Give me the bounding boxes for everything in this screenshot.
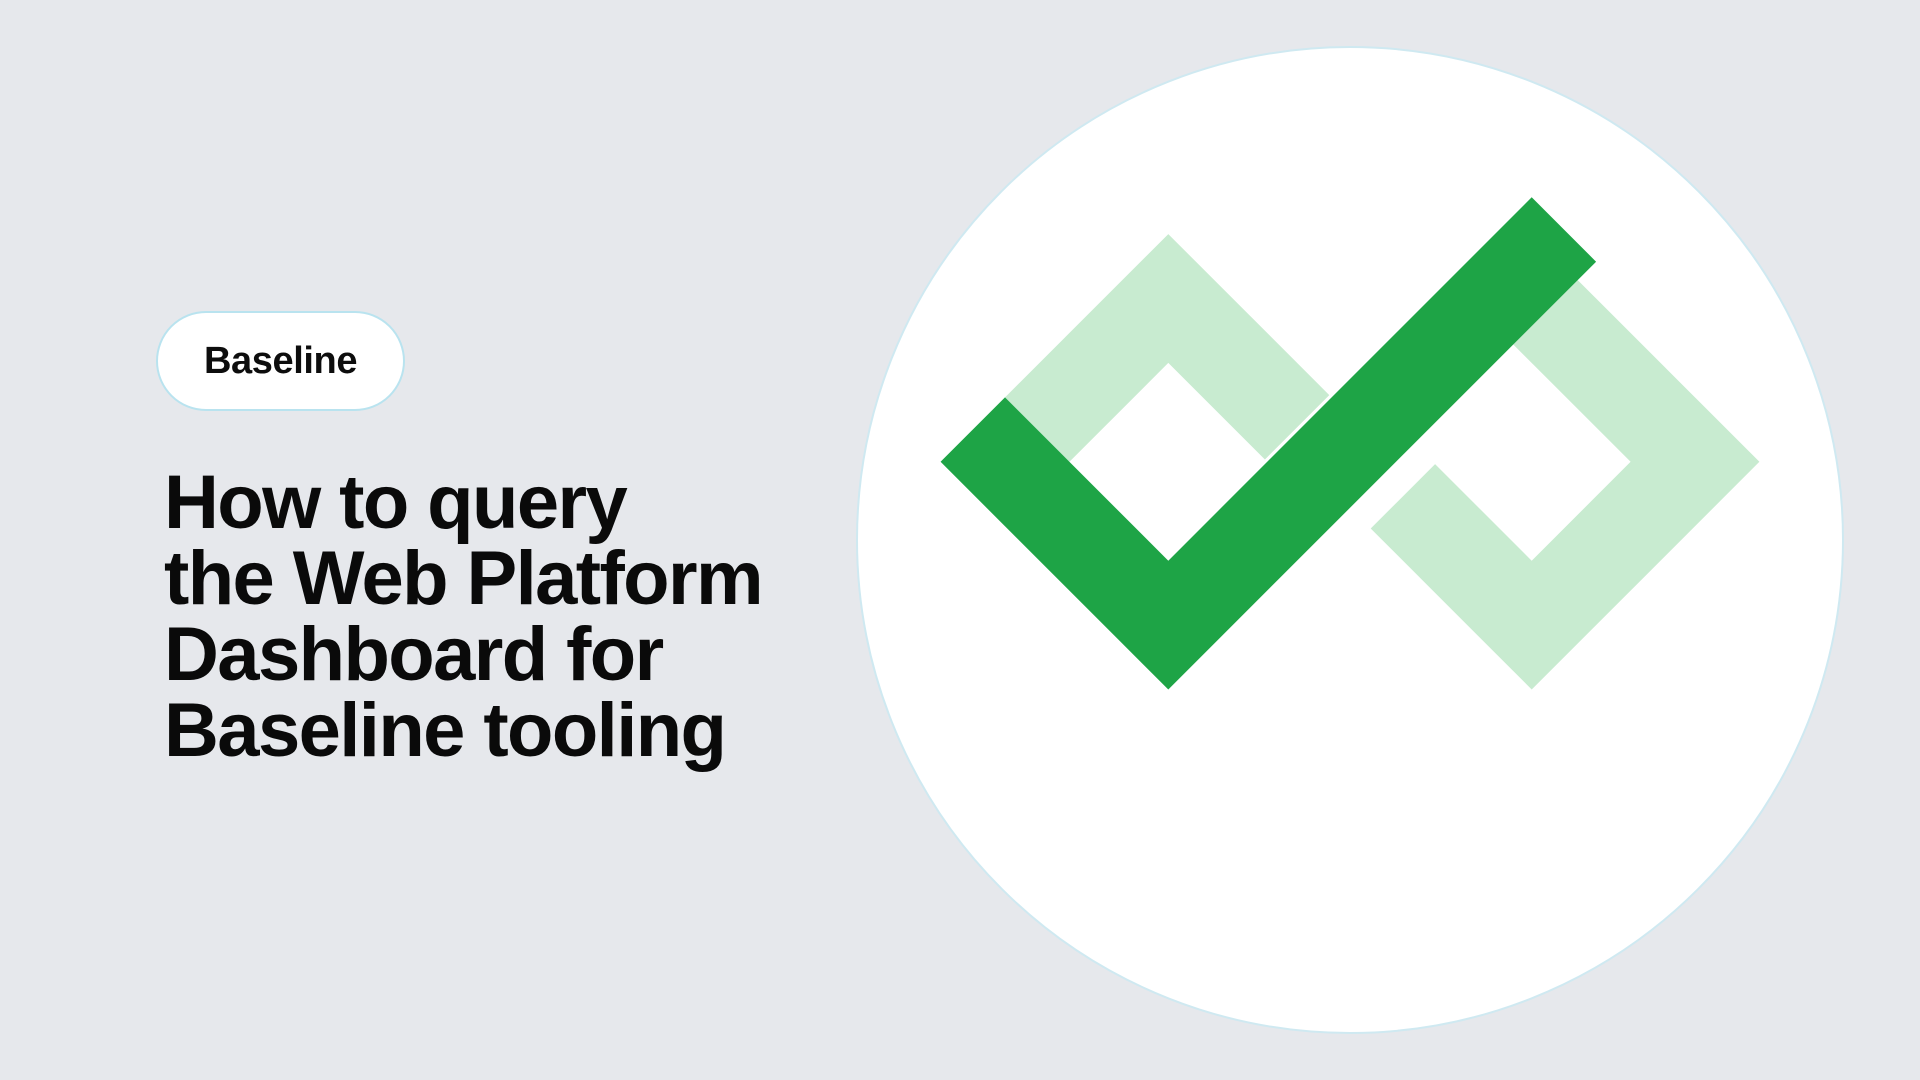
logo-disc	[856, 46, 1844, 1034]
social-card: Baseline How to query the Web Platform D…	[0, 0, 1920, 1080]
page-title: How to query the Web Platform Dashboard …	[164, 465, 762, 769]
page-title-line-1: How to query	[164, 465, 762, 541]
page-title-line-4: Baseline tooling	[164, 693, 762, 769]
baseline-badge-label: Baseline	[204, 342, 357, 380]
text-content: Baseline How to query the Web Platform D…	[164, 0, 864, 1080]
page-title-line-2: the Web Platform	[164, 541, 762, 617]
page-title-line-3: Dashboard for	[164, 617, 762, 693]
baseline-badge: Baseline	[156, 311, 405, 411]
baseline-logo-icon	[890, 80, 1810, 1000]
